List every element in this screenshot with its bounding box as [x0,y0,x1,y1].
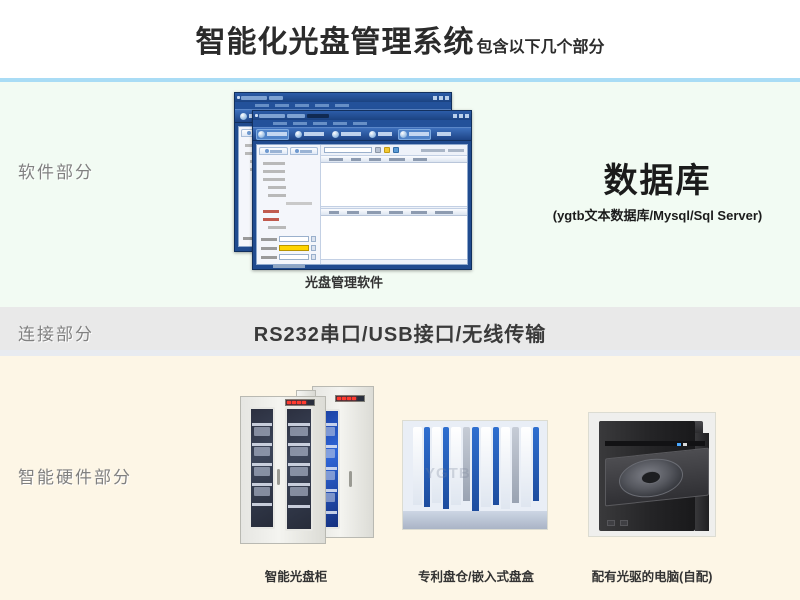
list-item[interactable] [263,178,285,181]
hardware-caption-computer: 配有光驱的电脑(自配) [576,566,728,585]
menu-item[interactable] [335,104,349,107]
list-item-required[interactable] [263,218,279,221]
column-header [329,158,343,161]
window-title-text [241,96,433,100]
cabinet-glass-door [285,407,313,531]
tray-slot [533,427,539,501]
software-screenshot-group [234,92,484,270]
window-toolbar[interactable] [253,127,471,141]
menu-item[interactable] [313,122,327,125]
cabinet-left [240,396,326,544]
status-bar [321,259,467,264]
menu-item[interactable] [295,104,309,107]
list-item[interactable] [263,170,285,173]
menu-item[interactable] [255,104,269,107]
window-titlebar [235,93,451,102]
toolbar-button-settings[interactable] [367,129,394,140]
connection-text: RS232串口/USB接口/无线传输 [0,318,800,347]
window-titlebar [253,111,471,120]
grid-header-bottom [321,209,467,216]
optical-drive-slot [605,441,705,446]
grid-header-top [321,156,467,163]
gear-icon [369,131,376,138]
tray-slot [413,427,422,505]
folder-open-icon[interactable] [384,147,390,153]
database-subtitle: (ygtb文本数据库/Mysql/Sql Server) [520,205,795,224]
disc-in-icon [240,113,247,120]
sidebar-panel [257,145,321,264]
list-icon [295,149,299,153]
tray-slot [463,427,470,501]
title-chip [259,114,285,118]
search-icon [332,131,339,138]
refresh-icon[interactable] [393,147,399,153]
sidebar-tabs[interactable] [257,145,320,158]
list-item-required[interactable] [263,210,279,213]
title-chip [269,96,283,100]
page-subtitle: 包含以下几个部分 [476,33,604,57]
list-item[interactable] [263,162,285,165]
tray-slot [493,427,499,505]
column-header [367,211,381,214]
column-header [329,211,339,214]
grid-rows-bottom[interactable] [321,216,467,259]
field-label [261,256,277,259]
column-header [347,211,359,214]
column-header [435,211,453,214]
sidebar-note [286,202,312,205]
pc-front-buttons[interactable] [607,520,628,526]
picker-button[interactable] [311,254,316,260]
software-caption: 光盘管理软件 [234,272,454,291]
disc-out-icon [295,131,302,138]
menu-item[interactable] [275,104,289,107]
window-menubar[interactable] [253,120,471,127]
toolbar-button-manage[interactable] [398,129,431,140]
menu-item[interactable] [293,122,307,125]
toolbar-button-disc-in[interactable] [256,129,289,140]
row-label-software: 软件部分 [18,158,94,183]
title-chip [241,96,267,100]
grid-toolbar-status [421,149,464,152]
dropdown-icon[interactable] [375,147,381,153]
sidebar-form[interactable] [257,233,320,270]
cabinet-led-display [285,399,315,406]
menu-item[interactable] [273,122,287,125]
database-title: 数据库 [520,163,795,200]
hardware-caption-cabinet: 智能光盘柜 [216,566,376,585]
pc-status-leds [677,443,687,446]
form-row-highlight[interactable] [261,245,316,251]
tray-slot [481,427,491,507]
tray-slot [521,427,531,507]
tray-base [403,511,548,529]
grid-toolbar[interactable] [321,145,467,156]
page-header: 智能化光盘管理系统 包含以下几个部分 [0,0,800,78]
computer-image [588,412,716,537]
cabinet-led-display [335,395,365,402]
tab-disc-list[interactable] [290,147,319,155]
form-row[interactable] [261,236,316,242]
tab-disc-category[interactable] [259,147,288,155]
toolbar-button-disc-out[interactable] [293,129,326,140]
window-controls[interactable] [453,114,469,118]
hardware-caption-tray: 专利盘仓/嵌入式盘盒 [398,566,554,585]
window-body [256,144,468,265]
column-header [389,158,405,161]
form-row[interactable] [261,254,316,260]
disc-in-icon [258,131,265,138]
database-block: 数据库 (ygtb文本数据库/Mysql/Sql Server) [520,163,795,224]
app-window-front[interactable] [252,110,472,270]
list-item[interactable] [268,226,286,229]
column-header [369,158,381,161]
window-title-text [259,114,453,118]
page-title: 智能化光盘管理系统 [195,17,474,61]
toolbar-button-disc-query[interactable] [330,129,363,140]
window-app-icon [237,96,240,99]
title-chip [307,114,329,118]
field-label [261,238,277,241]
menu-item[interactable] [315,104,329,107]
window-controls[interactable] [433,96,449,100]
tray-slot [472,427,479,511]
watermark-text: YGTB [425,465,471,482]
header-title-group: 智能化光盘管理系统 包含以下几个部分 [195,17,604,61]
infographic-page: 智能化光盘管理系统 包含以下几个部分 软件部分 [0,0,800,600]
sidebar-list[interactable] [257,158,320,233]
column-header [411,211,427,214]
cabinet-handle[interactable] [349,471,352,487]
folder-icon [265,149,269,153]
list-item[interactable] [268,186,286,189]
grid-search-input[interactable] [324,147,372,153]
list-item[interactable] [268,194,286,197]
column-header [413,158,427,161]
cabinet-handle[interactable] [277,469,280,485]
form-action-link[interactable] [273,265,305,268]
text-input[interactable] [279,254,309,260]
picker-button[interactable] [311,236,316,242]
disc-cabinet-image [216,378,376,553]
column-header [351,158,361,161]
menu-item[interactable] [333,122,347,125]
title-chip [287,114,305,118]
grid-rows-top[interactable] [321,163,467,206]
column-header [389,211,403,214]
manage-icon [400,131,407,138]
row-label-hardware: 智能硬件部分 [18,463,132,488]
tray-slot [501,427,510,509]
grid-panel [321,145,467,264]
text-input[interactable] [279,236,309,242]
picker-button[interactable] [311,245,316,251]
folder-icon [247,131,251,135]
field-label [261,247,277,250]
toolbar-button-exit[interactable] [435,129,453,140]
text-input-active[interactable] [279,245,309,251]
menu-item[interactable] [353,122,367,125]
disc-tray-image: YGTB [402,420,548,530]
window-app-icon [255,114,258,117]
window-menubar[interactable] [235,102,451,109]
tray-slot [512,427,519,503]
cabinet-glass-door [249,407,275,529]
